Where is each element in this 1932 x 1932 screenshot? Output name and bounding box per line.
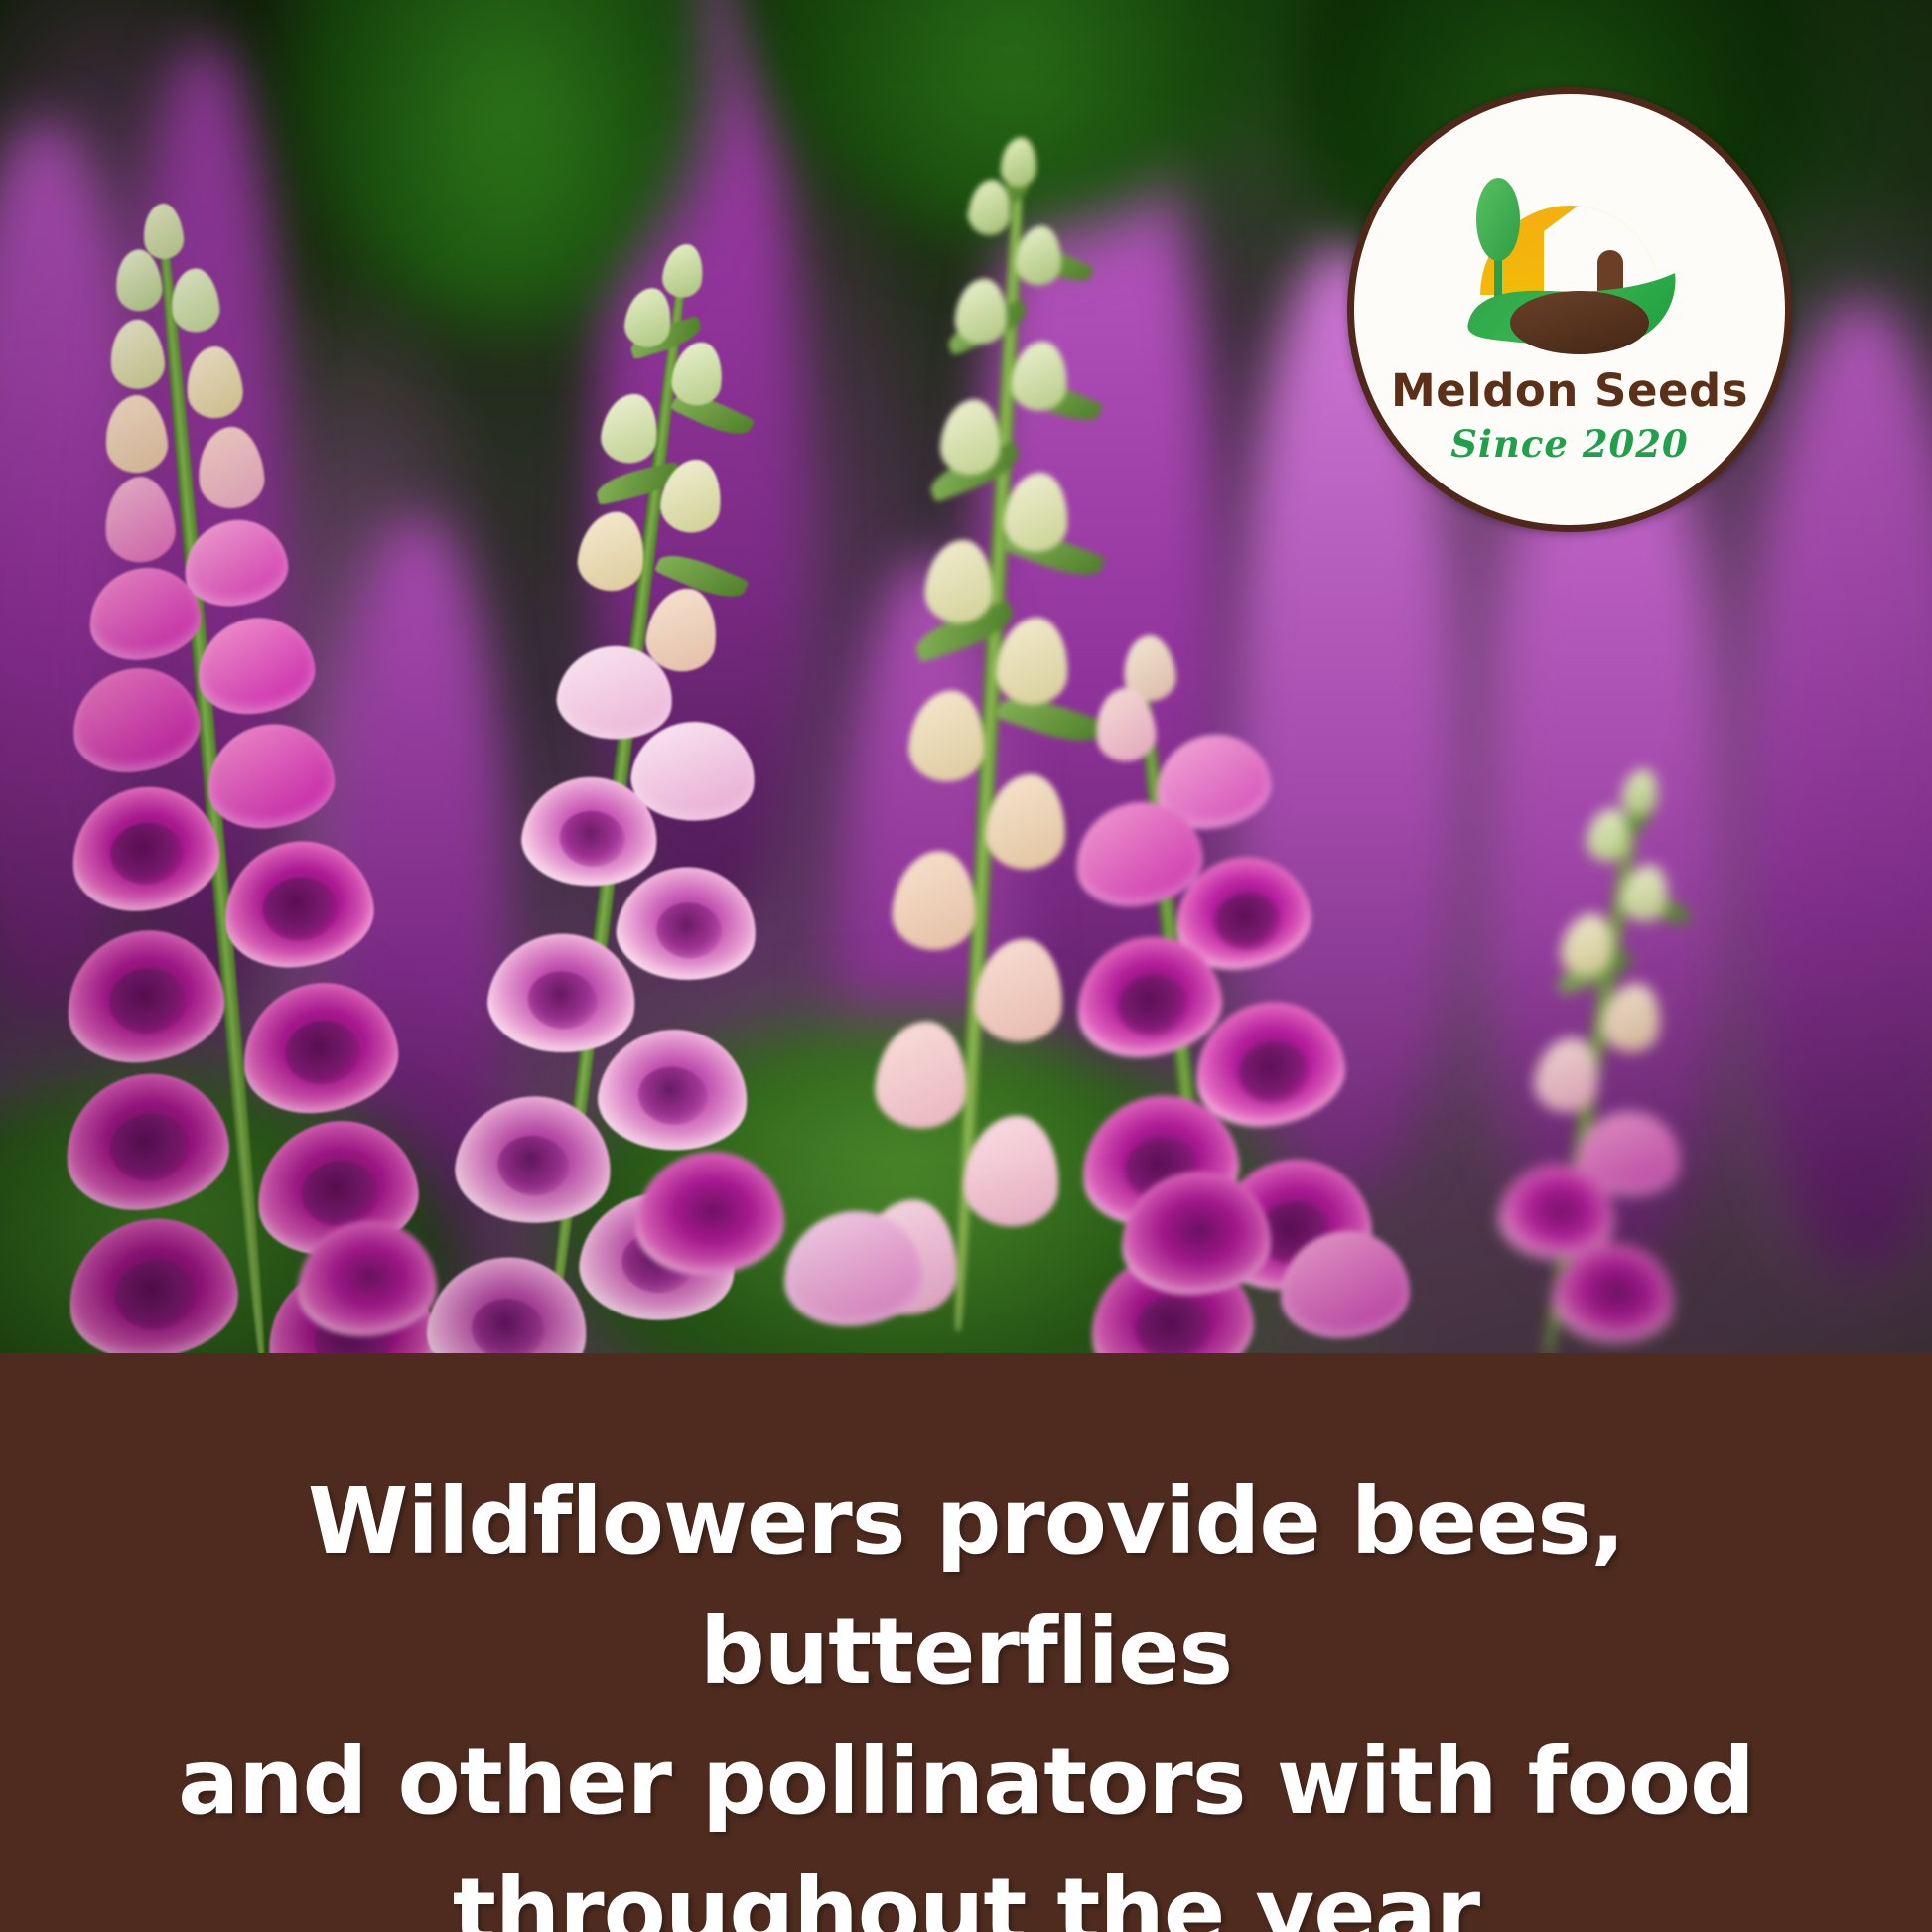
logo-tagline: Since 2020 — [1354, 422, 1785, 466]
farmhouse-sun-sprout-seed-icon — [1441, 146, 1699, 356]
social-post-canvas: Meldon Seeds Since 2020 Wildflowers prov… — [0, 0, 1932, 1932]
logo-wordmark: Meldon Seeds — [1354, 364, 1785, 417]
caption-text: Wildflowers provide bees, butterflies an… — [0, 1456, 1932, 1932]
brand-logo-badge[interactable]: Meldon Seeds Since 2020 — [1347, 87, 1792, 532]
caption-line-1: Wildflowers provide bees, butterflies — [60, 1456, 1872, 1717]
caption-line-3: throughout the year — [60, 1847, 1872, 1932]
caption-band: Wildflowers provide bees, butterflies an… — [0, 1353, 1932, 1932]
caption-line-2: and other pollinators with food — [60, 1717, 1872, 1847]
